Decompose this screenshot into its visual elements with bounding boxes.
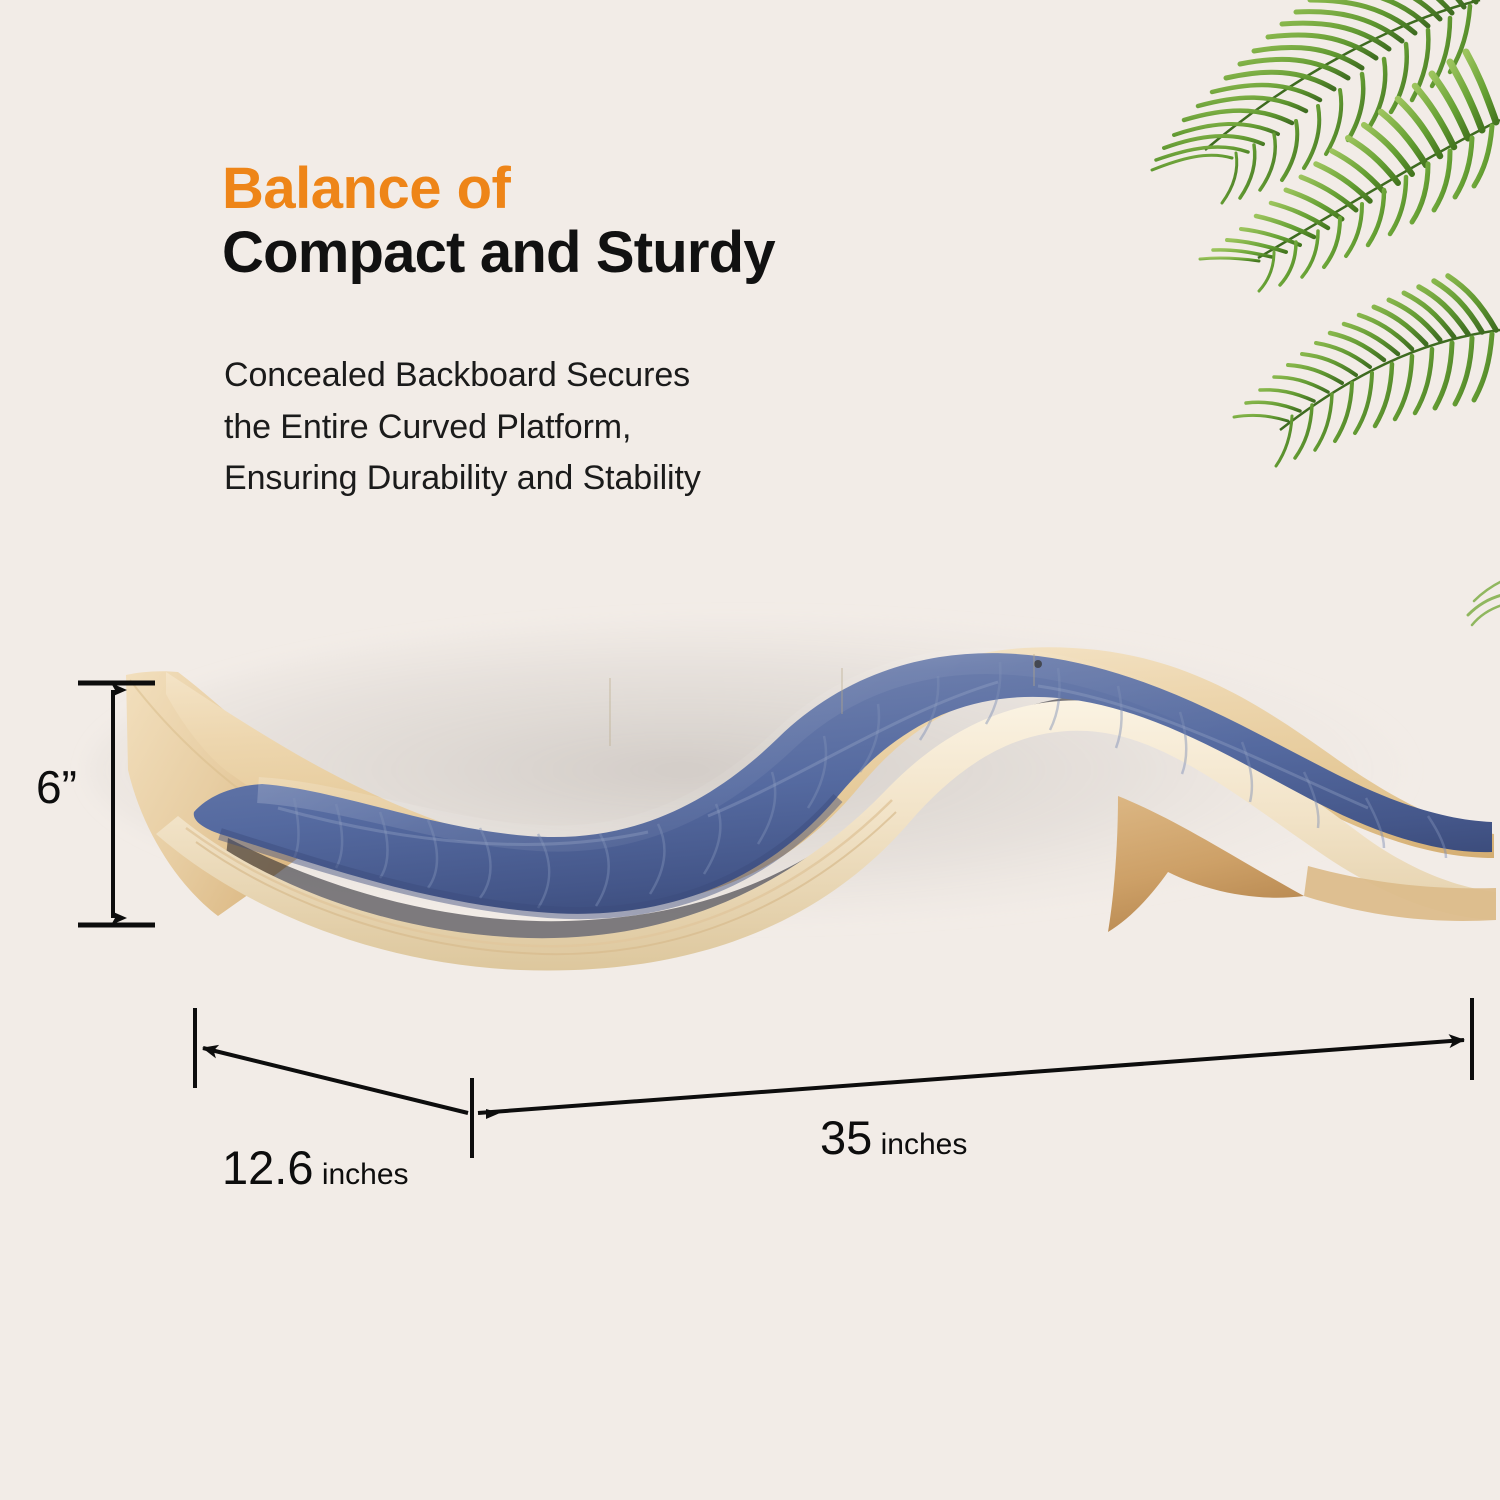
dimension-label-width: 35 inches — [820, 1110, 967, 1165]
headline-block: Balance of Compact and Sturdy — [222, 160, 982, 282]
depth-dimension-arrow — [203, 1048, 468, 1113]
width-dimension-arrow-back — [486, 1109, 500, 1119]
subtitle-line-2: the Entire Curved Platform, — [224, 402, 904, 454]
dimension-label-height: 6” — [36, 760, 77, 814]
product-image-cat-wall-shelf — [108, 620, 1500, 980]
headline-accent-line: Balance of — [222, 160, 982, 218]
dimension-width-value: 35 — [820, 1111, 872, 1164]
palm-frond-decoration — [1140, 0, 1500, 500]
width-dimension-arrow — [478, 1040, 1464, 1113]
infographic-canvas: Balance of Compact and Sturdy Concealed … — [0, 0, 1500, 1500]
dimension-depth-value: 12.6 — [222, 1141, 313, 1194]
dimension-depth-unit: inches — [313, 1158, 408, 1191]
subtitle-line-1: Concealed Backboard Secures — [224, 350, 904, 402]
subtitle-block: Concealed Backboard Secures the Entire C… — [224, 350, 904, 505]
headline-main-line: Compact and Sturdy — [222, 224, 982, 282]
dimension-label-depth: 12.6 inches — [222, 1140, 409, 1195]
dimension-width-unit: inches — [872, 1128, 967, 1161]
mounting-screw-dot — [1034, 660, 1042, 668]
subtitle-line-3: Ensuring Durability and Stability — [224, 453, 904, 505]
palm-frond-3 — [1234, 276, 1500, 466]
